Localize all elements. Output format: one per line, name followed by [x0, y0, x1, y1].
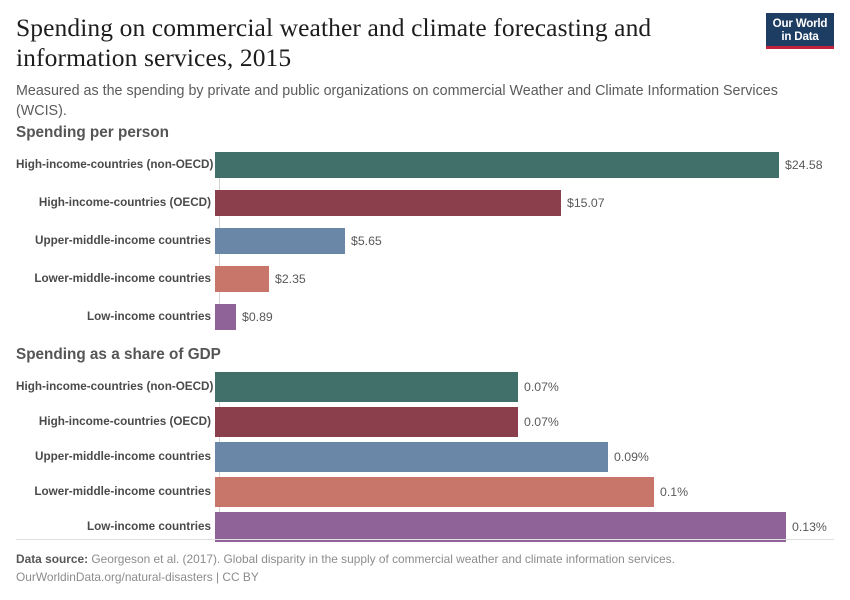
- bar[interactable]: [215, 152, 779, 178]
- value-label: 0.13%: [786, 521, 827, 533]
- footer-divider: [16, 539, 834, 540]
- bar-row[interactable]: Low-income countries $0.89: [16, 304, 834, 330]
- panel-title-spending-share-gdp: Spending as a share of GDP: [16, 346, 834, 364]
- panel-spending-share-gdp: Spending as a share of GDP High-income-c…: [16, 330, 834, 542]
- footer-license-line[interactable]: OurWorldinData.org/natural-disasters | C…: [16, 568, 834, 586]
- chart-footer: Data source: Georgeson et al. (2017). Gl…: [16, 539, 834, 586]
- bar[interactable]: [215, 407, 518, 437]
- bar[interactable]: [215, 266, 269, 292]
- bar[interactable]: [215, 228, 345, 254]
- bar-row[interactable]: High-income-countries (non-OECD) 0.07%: [16, 372, 834, 402]
- value-label: 0.07%: [518, 381, 559, 393]
- bar-container: 0.1%: [215, 477, 834, 507]
- page-title: Spending on commercial weather and clima…: [16, 13, 656, 73]
- value-label: 0.09%: [608, 451, 649, 463]
- bar-row[interactable]: Lower-middle-income countries $2.35: [16, 266, 834, 292]
- bar[interactable]: [215, 304, 236, 330]
- category-label: Upper-middle-income countries: [16, 235, 215, 248]
- bar-container: 0.09%: [215, 442, 834, 472]
- chart-page: Spending on commercial weather and clima…: [0, 0, 850, 600]
- owid-logo[interactable]: Our World in Data: [766, 13, 834, 49]
- bar-container: $15.07: [215, 190, 834, 216]
- category-label: Low-income countries: [16, 521, 215, 534]
- bar-container: 0.13%: [215, 512, 834, 542]
- category-label: Lower-middle-income countries: [16, 486, 215, 499]
- value-label: 0.07%: [518, 416, 559, 428]
- bar-row[interactable]: High-income-countries (OECD) 0.07%: [16, 407, 834, 437]
- value-label: 0.1%: [654, 486, 688, 498]
- panel-spending-per-person: Spending per person High-income-countrie…: [16, 121, 834, 330]
- footer-source-line: Data source: Georgeson et al. (2017). Gl…: [16, 550, 834, 568]
- footer-source-prefix: Data source:: [16, 552, 88, 566]
- chart-header: Spending on commercial weather and clima…: [16, 0, 834, 121]
- owid-logo-line-1: Our World: [771, 17, 829, 30]
- category-label: Upper-middle-income countries: [16, 451, 215, 464]
- bar-container: $0.89: [215, 304, 834, 330]
- owid-logo-line-2: in Data: [771, 30, 829, 43]
- panel-title-spending-per-person: Spending per person: [16, 124, 834, 142]
- category-label: High-income-countries (non-OECD): [16, 159, 215, 172]
- value-label: $2.35: [269, 273, 306, 285]
- bar-container: 0.07%: [215, 372, 834, 402]
- bar[interactable]: [215, 372, 518, 402]
- footer-source-text: Georgeson et al. (2017). Global disparit…: [91, 552, 675, 566]
- bar[interactable]: [215, 442, 608, 472]
- bar-container: 0.07%: [215, 407, 834, 437]
- bar-container: $5.65: [215, 228, 834, 254]
- plot-area-spending-per-person: High-income-countries (non-OECD) $24.58 …: [16, 152, 834, 330]
- bar-row[interactable]: High-income-countries (OECD) $15.07: [16, 190, 834, 216]
- value-label: $5.65: [345, 235, 382, 247]
- bar-container: $24.58: [215, 152, 834, 178]
- category-label: High-income-countries (OECD): [16, 197, 215, 210]
- bar[interactable]: [215, 477, 654, 507]
- bar[interactable]: [215, 190, 561, 216]
- bar-row[interactable]: Upper-middle-income countries 0.09%: [16, 442, 834, 472]
- category-label: High-income-countries (OECD): [16, 416, 215, 429]
- bar-row[interactable]: Low-income countries 0.13%: [16, 512, 834, 542]
- bar[interactable]: [215, 512, 786, 542]
- category-label: Low-income countries: [16, 311, 215, 324]
- bar-row[interactable]: High-income-countries (non-OECD) $24.58: [16, 152, 834, 178]
- value-label: $24.58: [779, 159, 823, 171]
- value-label: $0.89: [236, 311, 273, 323]
- bar-container: $2.35: [215, 266, 834, 292]
- category-label: High-income-countries (non-OECD): [16, 381, 215, 394]
- plot-area-spending-share-gdp: High-income-countries (non-OECD) 0.07% H…: [16, 372, 834, 542]
- bar-row[interactable]: Lower-middle-income countries 0.1%: [16, 477, 834, 507]
- bar-row[interactable]: Upper-middle-income countries $5.65: [16, 228, 834, 254]
- category-label: Lower-middle-income countries: [16, 273, 215, 286]
- value-label: $15.07: [561, 197, 605, 209]
- page-subtitle: Measured as the spending by private and …: [16, 82, 806, 121]
